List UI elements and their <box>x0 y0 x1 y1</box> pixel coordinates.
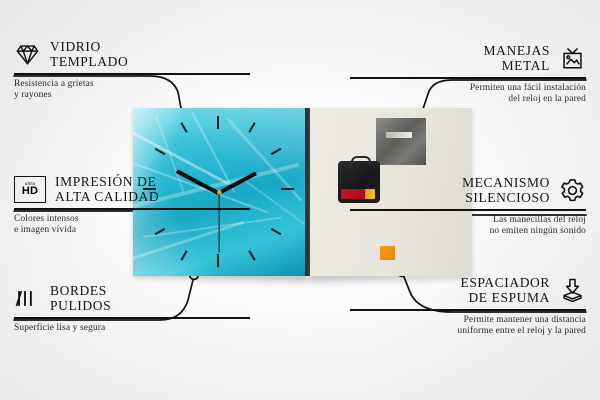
callout-divider <box>14 73 250 75</box>
callout-description: Superficie lisa y segura <box>14 323 250 335</box>
polished-edges-icon <box>14 285 41 312</box>
callout-manejas-metal: MANEJAS METAL Permiten una fácil instala… <box>350 44 586 106</box>
callout-header: VIDRIO TEMPLADO <box>14 40 250 69</box>
diamond-icon <box>14 41 41 68</box>
callout-title: ESPACIADOR DE ESPUMA <box>460 276 550 305</box>
callout-divider <box>350 209 586 211</box>
ultra-hd-icon-main: HD <box>22 186 38 197</box>
metal-hanger-plate <box>376 118 426 165</box>
callout-divider <box>350 77 586 79</box>
picture-hanger-icon <box>559 45 586 72</box>
foam-spacer <box>380 246 395 260</box>
callout-title: MECANISMO SILENCIOSO <box>462 176 550 205</box>
callout-header: MECANISMO SILENCIOSO <box>350 176 586 205</box>
callout-bordes-pulidos: BORDES PULIDOS Superficie lisa y segura <box>14 284 250 334</box>
callout-description: Colores intensos e imagen vívida <box>14 214 250 237</box>
ultra-hd-icon: ultra HD <box>14 176 46 203</box>
callout-header: MANEJAS METAL <box>350 44 586 73</box>
callout-title: IMPRESIÓN DE ALTA CALIDAD <box>55 175 159 204</box>
gear-icon <box>559 177 586 204</box>
hanger-loop-icon <box>351 156 371 166</box>
callout-title: MANEJAS METAL <box>484 44 550 73</box>
callout-mecanismo-silencioso: MECANISMO SILENCIOSO Las manecillas del … <box>350 176 586 238</box>
callout-title: BORDES PULIDOS <box>50 284 111 313</box>
callout-header: ESPACIADOR DE ESPUMA <box>350 276 586 305</box>
callout-impresion-alta-calidad: ultra HD IMPRESIÓN DE ALTA CALIDAD Color… <box>14 175 250 237</box>
callout-divider <box>14 317 250 319</box>
callout-description: Permiten una fácil instalación del reloj… <box>350 83 586 106</box>
callout-espaciador-espuma: ESPACIADOR DE ESPUMA Permite mantener un… <box>350 276 586 338</box>
callout-header: ultra HD IMPRESIÓN DE ALTA CALIDAD <box>14 175 250 204</box>
callout-vidrio-templado: VIDRIO TEMPLADO Resistencia a grietas y … <box>14 40 250 102</box>
callout-description: Resistencia a grietas y rayones <box>14 79 250 102</box>
callout-divider <box>350 309 586 311</box>
callout-description: Permite mantener una distancia uniforme … <box>350 315 586 338</box>
infographic-canvas: VIDRIO TEMPLADO Resistencia a grietas y … <box>0 0 600 400</box>
callout-description: Las manecillas del reloj no emiten ningú… <box>350 215 586 238</box>
callout-header: BORDES PULIDOS <box>14 284 250 313</box>
callout-divider <box>14 208 250 210</box>
foam-spacer-icon <box>559 277 586 304</box>
callout-title: VIDRIO TEMPLADO <box>50 40 128 69</box>
